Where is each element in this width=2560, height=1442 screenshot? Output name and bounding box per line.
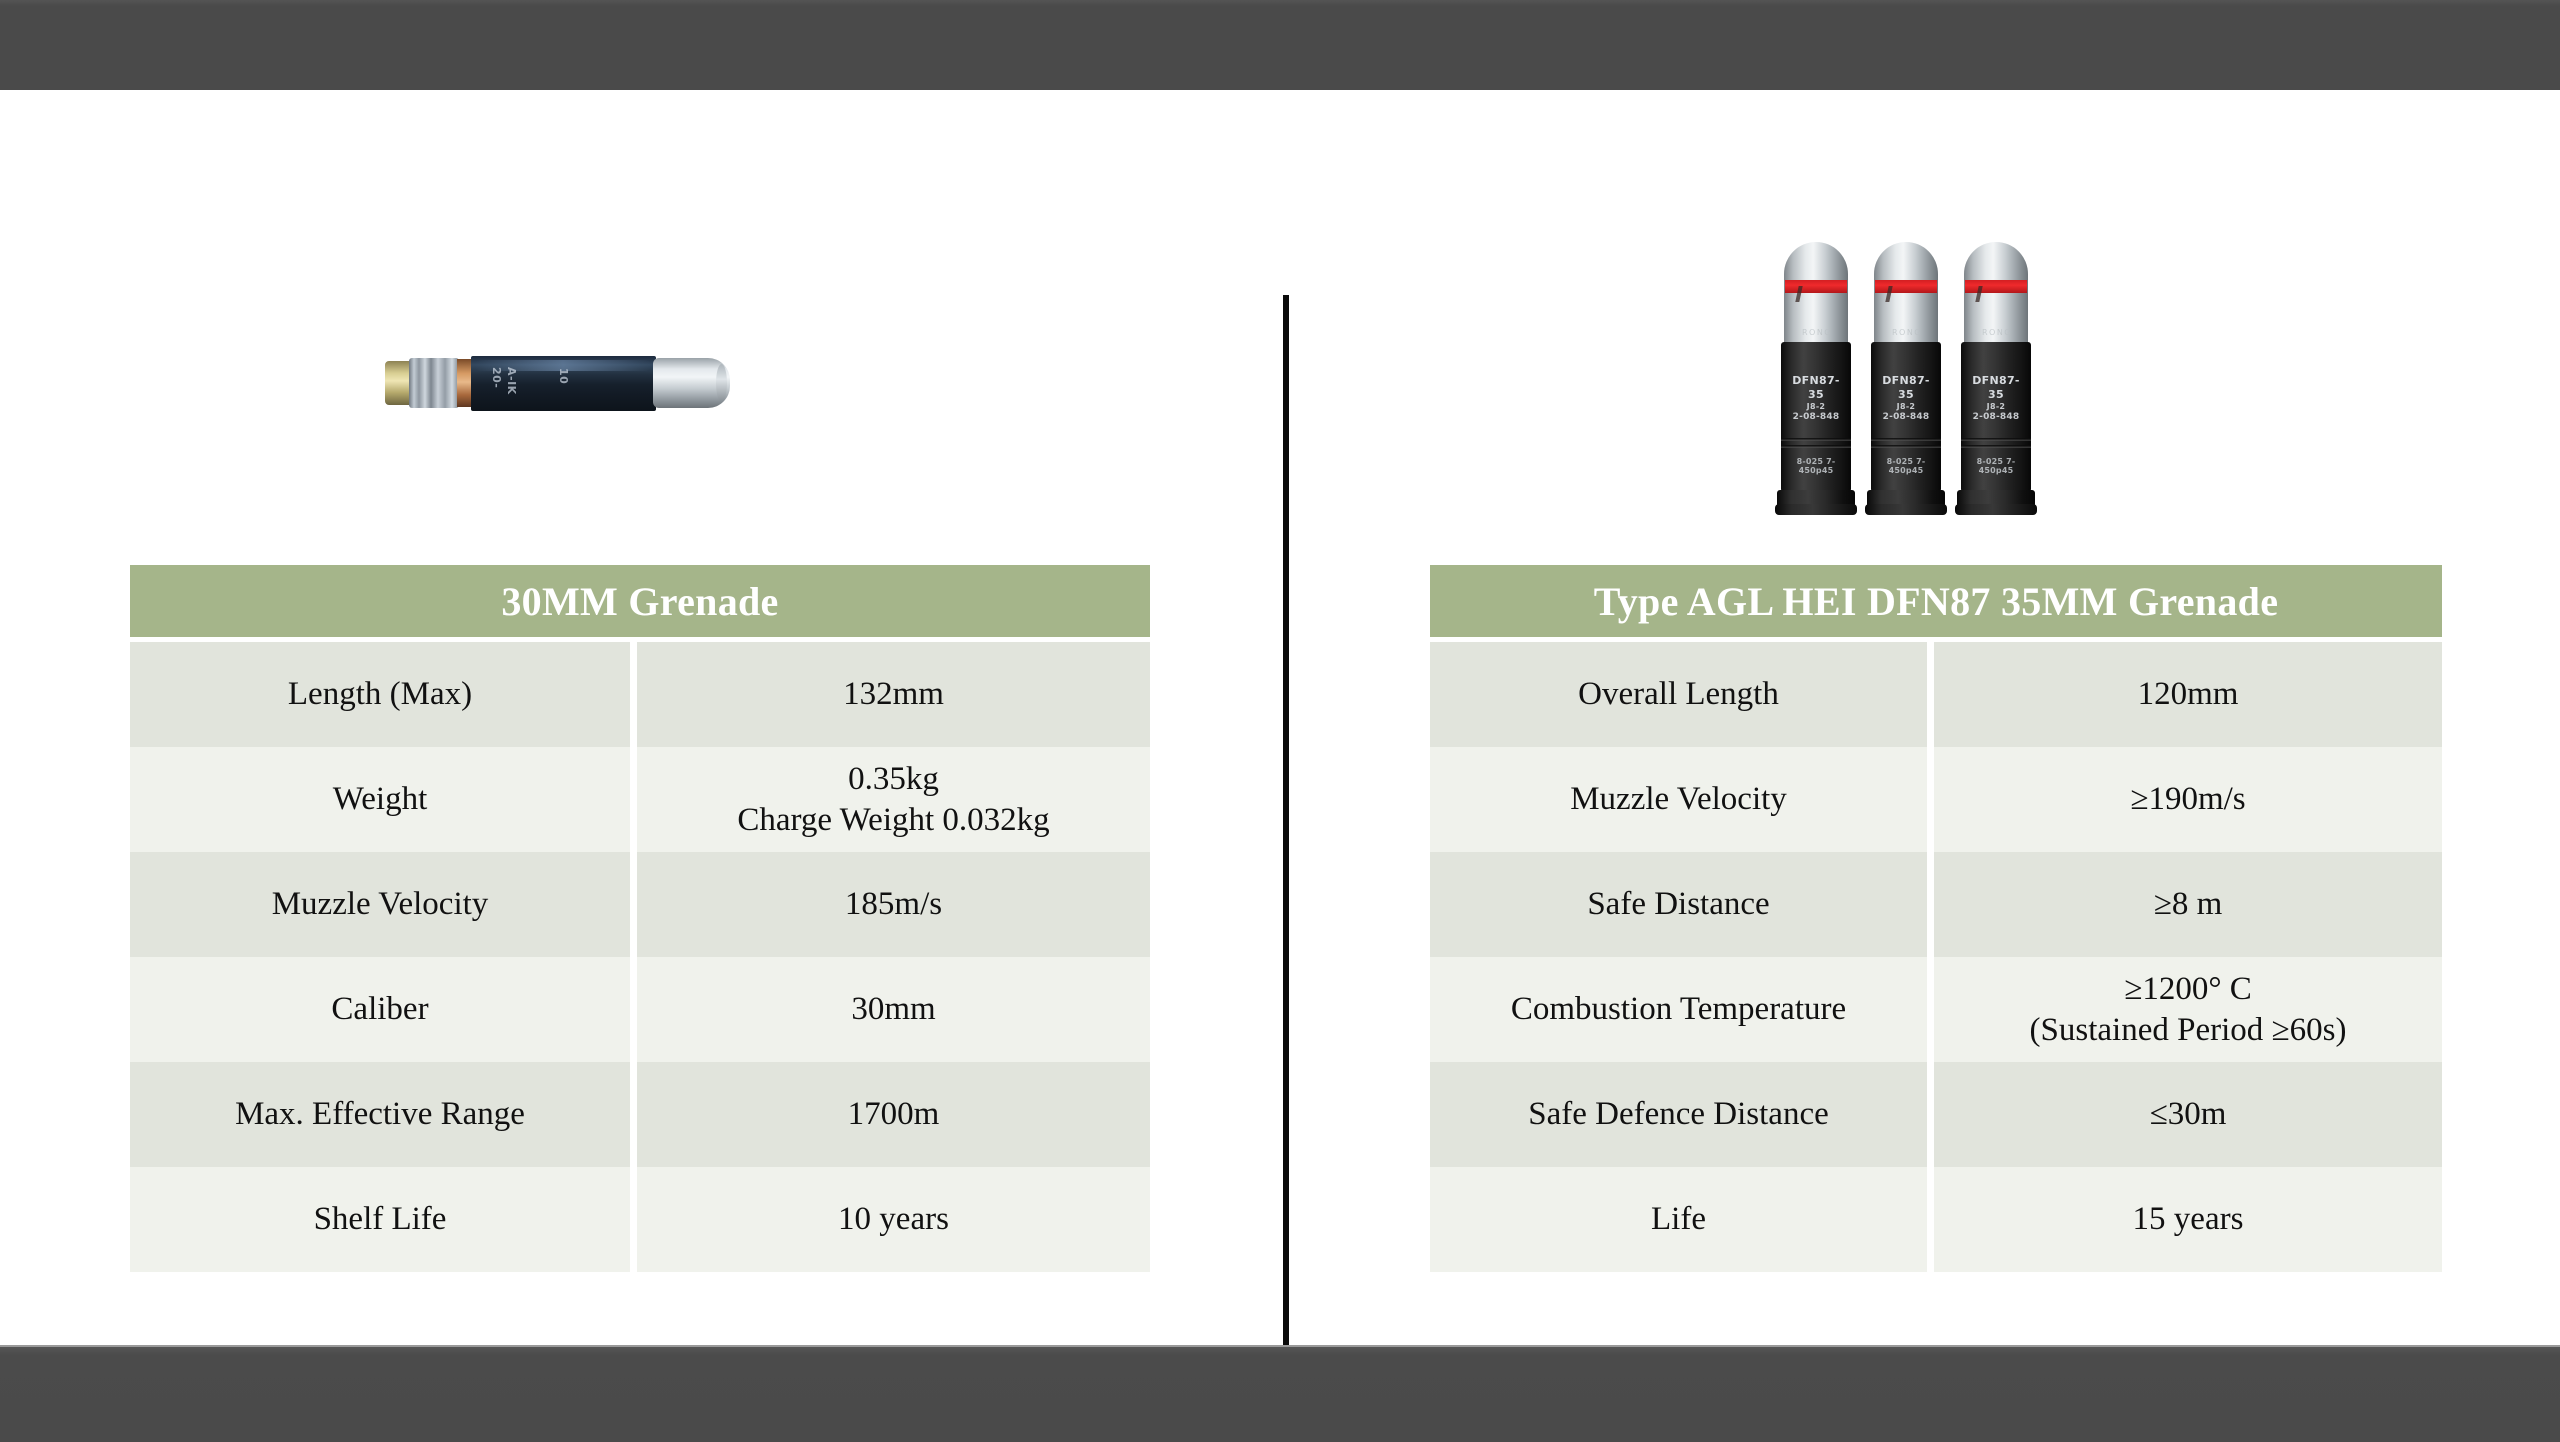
grenade-nose-text: RONG — [1879, 328, 1935, 337]
row-key: Length (Max) — [130, 642, 630, 747]
grenade-lower-stencil: 8-025 7-450p45 — [1871, 457, 1941, 475]
column-gap — [630, 642, 637, 747]
grenade-stencil: DFN87-35 J8-2 2-08-848 — [1785, 374, 1847, 423]
cartridge-base — [385, 361, 411, 405]
row-value-line-1: 0.35kg — [848, 761, 939, 797]
row-value: ≤30m — [1934, 1062, 2442, 1167]
table-row: Safe Defence Distance ≤30m — [1430, 1062, 2442, 1167]
table-row: Combustion Temperature ≥1200° C (Sustain… — [1430, 957, 2442, 1062]
table-row: Max. Effective Range 1700m — [130, 1062, 1150, 1167]
row-key: Life — [1430, 1167, 1927, 1272]
grenade-red-band — [1785, 280, 1847, 293]
row-key: Weight — [130, 747, 630, 852]
table-title: 30MM Grenade — [130, 565, 1150, 637]
column-gap — [630, 747, 637, 852]
table-header-row: 30MM Grenade — [130, 565, 1150, 637]
grenade-stencil: DFN87-35 J8-2 2-08-848 — [1965, 374, 2027, 423]
row-value-line-2: Charge Weight 0.032kg — [647, 800, 1140, 840]
grenade-stencil-line-1: DFN87-35 — [1965, 374, 2027, 402]
row-value: 120mm — [1934, 642, 2442, 747]
table-title: Type AGL HEI DFN87 35MM Grenade — [1430, 565, 2442, 637]
slide-canvas: 20- A-IK 10 RONG DFN87-35 J8-2 2-08-848 … — [0, 90, 2560, 1345]
row-value: 10 years — [637, 1167, 1150, 1272]
grenade-stencil-line-2: J8-2 — [1965, 402, 2027, 412]
grenade-stencil-line-3: 2-08-848 — [1785, 412, 1847, 423]
grenade-cannelure — [1781, 445, 1851, 448]
spec-table-30mm-grenade: 30MM Grenade Length (Max) 132mm Weight 0… — [130, 565, 1150, 1272]
grenade-cannelure — [1961, 438, 2031, 441]
column-gap — [1927, 1062, 1934, 1167]
row-key: Muzzle Velocity — [1430, 747, 1927, 852]
table-row: Caliber 30mm — [130, 957, 1150, 1062]
cartridge-stencil-line-3: 10 — [557, 368, 570, 384]
bottom-chrome-bar — [0, 1345, 2560, 1442]
grenade-cannelure — [1871, 438, 1941, 441]
cartridge-stencil-line-2: A-IK — [505, 367, 518, 395]
row-key: Max. Effective Range — [130, 1062, 630, 1167]
grenade-round: RONG DFN87-35 J8-2 2-08-848 8-025 7-450p… — [1955, 242, 2037, 520]
table-row: Muzzle Velocity 185m/s — [130, 852, 1150, 957]
row-key: Safe Distance — [1430, 852, 1927, 957]
grenade-cannelure — [1871, 445, 1941, 448]
column-gap — [630, 1167, 637, 1272]
column-gap — [1927, 747, 1934, 852]
row-key: Safe Defence Distance — [1430, 1062, 1927, 1167]
grenade-lower-stencil: 8-025 7-450p45 — [1781, 457, 1851, 475]
row-value: 185m/s — [637, 852, 1150, 957]
grenade-30mm-photo: 20- A-IK 10 — [385, 352, 730, 414]
column-gap — [1927, 957, 1934, 1062]
spec-table-dfn87-35mm-grenade: Type AGL HEI DFN87 35MM Grenade Overall … — [1430, 565, 2442, 1272]
table-row: Muzzle Velocity ≥190m/s — [1430, 747, 2442, 852]
table-row: Shelf Life 10 years — [130, 1167, 1150, 1272]
cartridge-rings — [409, 358, 459, 408]
panel-divider — [1283, 295, 1289, 1350]
column-gap — [1927, 1167, 1934, 1272]
row-key: Caliber — [130, 957, 630, 1062]
grenade-dfn87-35mm-photo: RONG DFN87-35 J8-2 2-08-848 8-025 7-450p… — [1775, 242, 2040, 522]
table-row: Overall Length 120mm — [1430, 642, 2442, 747]
row-key: Overall Length — [1430, 642, 1927, 747]
grenade-stencil-line-3: 2-08-848 — [1965, 412, 2027, 423]
grenade-cannelure — [1781, 438, 1851, 441]
grenade-base-rim — [1775, 504, 1857, 515]
row-value: ≥1200° C (Sustained Period ≥60s) — [1934, 957, 2442, 1062]
grenade-round: RONG DFN87-35 J8-2 2-08-848 8-025 7-450p… — [1865, 242, 1947, 520]
table-row: Life 15 years — [1430, 1167, 2442, 1272]
grenade-stencil-line-3: 2-08-848 — [1875, 412, 1937, 423]
row-value: 0.35kg Charge Weight 0.032kg — [637, 747, 1150, 852]
grenade-red-band — [1965, 280, 2027, 293]
column-gap — [630, 852, 637, 957]
grenade-nose-text: RONG — [1969, 328, 2025, 337]
grenade-stencil-line-1: DFN87-35 — [1875, 374, 1937, 402]
table-row: Length (Max) 132mm — [130, 642, 1150, 747]
grenade-stencil-line-2: J8-2 — [1785, 402, 1847, 412]
row-value-line-1: ≥1200° C — [2124, 971, 2252, 1007]
row-key: Shelf Life — [130, 1167, 630, 1272]
grenade-base-rim — [1865, 504, 1947, 515]
row-value: ≥190m/s — [1934, 747, 2442, 852]
grenade-stencil: DFN87-35 J8-2 2-08-848 — [1875, 374, 1937, 423]
top-chrome-bar — [0, 0, 2560, 90]
grenade-lower-stencil: 8-025 7-450p45 — [1961, 457, 2031, 475]
row-key: Combustion Temperature — [1430, 957, 1927, 1062]
row-value-line-2: (Sustained Period ≥60s) — [1944, 1010, 2432, 1050]
column-gap — [630, 957, 637, 1062]
table-row: Weight 0.35kg Charge Weight 0.032kg — [130, 747, 1150, 852]
table-header-row: Type AGL HEI DFN87 35MM Grenade — [1430, 565, 2442, 637]
grenade-cannelure — [1961, 445, 2031, 448]
grenade-stencil-line-1: DFN87-35 — [1785, 374, 1847, 402]
grenade-red-band — [1875, 280, 1937, 293]
row-value: 1700m — [637, 1062, 1150, 1167]
grenade-base-rim — [1955, 504, 2037, 515]
cartridge-nose-tip — [716, 364, 727, 402]
row-value: 15 years — [1934, 1167, 2442, 1272]
row-value: 30mm — [637, 957, 1150, 1062]
grenade-nose-text: RONG — [1789, 328, 1845, 337]
column-gap — [630, 1062, 637, 1167]
grenade-stencil-line-2: J8-2 — [1875, 402, 1937, 412]
row-value: ≥8 m — [1934, 852, 2442, 957]
grenade-round: RONG DFN87-35 J8-2 2-08-848 8-025 7-450p… — [1775, 242, 1857, 520]
table-row: Safe Distance ≥8 m — [1430, 852, 2442, 957]
row-value: 132mm — [637, 642, 1150, 747]
column-gap — [1927, 852, 1934, 957]
cartridge-stencil-line-1: 20- — [490, 367, 503, 388]
row-key: Muzzle Velocity — [130, 852, 630, 957]
column-gap — [1927, 642, 1934, 747]
